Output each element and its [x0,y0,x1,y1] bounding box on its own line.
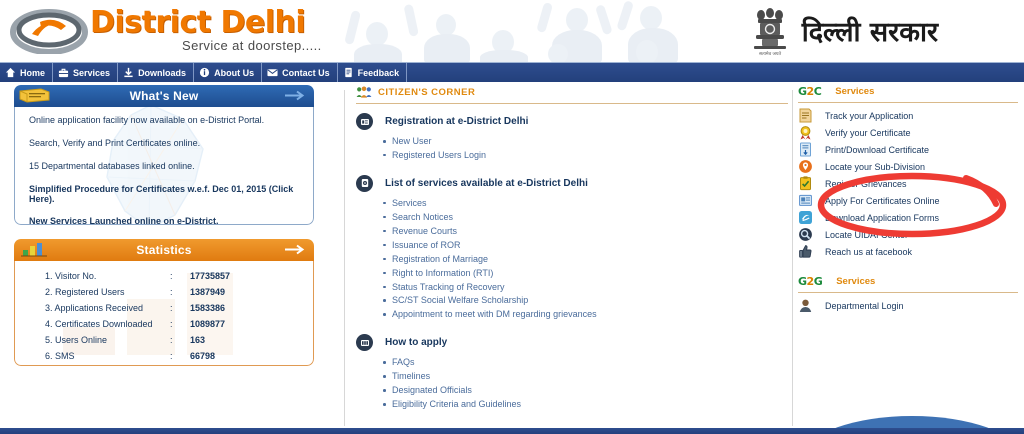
track-document-icon [798,108,813,123]
section-header: Registration at e-District Delhi [356,113,788,130]
g2c-item-verify-certificate[interactable]: Verify your Certificate [798,124,1018,141]
arrow-right-icon[interactable] [284,244,306,255]
award-medal-icon [798,125,813,140]
g2c-item-locate-uidai-center[interactable]: Locate UIDAI Center [798,226,1018,243]
g2g-logo: G2G [798,275,822,288]
g2c-item-label: Track your Application [825,111,913,121]
list-item[interactable]: SC/ST Social Welfare Scholarship [392,294,788,308]
nav-item-label: About Us [214,68,254,78]
section-how-to-apply: How to apply FAQs Timelines Designated O… [356,334,788,412]
page-content: What's New Online application facility n… [0,82,1024,434]
g2c-item-label: Print/Download Certificate [825,145,929,155]
delhi-government-hindi-title: दिल्ली सरकार [802,12,938,49]
list-item[interactable]: Issuance of ROR [392,239,788,253]
statistics-body: 1. Visitor No. : 17735857 2. Registered … [14,261,314,366]
people-icon [356,86,372,98]
list-item[interactable]: New User [392,135,788,149]
column-divider-right [792,90,793,426]
g2c-item-register-grievances[interactable]: Register Grievances [798,175,1018,192]
right-sidebar: G2C Services Track your Application [798,84,1018,314]
clipboard-check-icon [798,176,813,191]
statistics-row: 1. Visitor No. : 17735857 [15,268,313,284]
statistics-row: 6. SMS : 66798 [15,348,313,364]
nav-item-label: Downloads [138,68,186,78]
statistics-row: 3. Applications Received : 1583386 [15,300,313,316]
whats-new-item[interactable]: 15 Departmental databases linked online. [29,162,303,172]
statistics-separator: : [170,287,190,297]
citizens-corner-header: CITIZEN'S CORNER [356,84,788,100]
page-root: District Delhi Service at doorstep..... … [0,0,1024,434]
statistics-separator: : [170,319,190,329]
list-item[interactable]: Right to Information (RTI) [392,267,788,281]
info-icon [199,67,210,78]
g2g-item-departmental-login[interactable]: Departmental Login [798,297,1018,314]
g2g-header: G2G Services [798,274,1018,289]
g2c-services-label: Services [835,86,874,97]
g2c-item-reach-us-facebook[interactable]: Reach us at facebook [798,243,1018,260]
main-navigation: Home Services Downloads About Us [0,62,1024,82]
statistics-title: Statistics [136,243,191,257]
briefcase-icon [58,67,69,78]
statistics-value: 66798 [190,351,215,361]
nav-item-downloads[interactable]: Downloads [118,63,194,83]
statistics-label: 4. Certificates Downloaded [45,319,170,329]
envelope-icon [267,67,278,78]
g2g-item-label: Departmental Login [825,301,904,311]
whats-new-item[interactable]: New Services Launched online on e-Distri… [29,217,303,225]
section-title: Registration at e-District Delhi [385,116,528,127]
bar-chart-icon [19,242,53,257]
list-item[interactable]: Designated Officials [392,384,788,398]
statistics-panel: Statistics 1. Visitor No. : 17735857 [14,239,314,366]
list-item[interactable]: Registered Users Login [392,149,788,163]
nav-item-label: Services [73,68,110,78]
section-list: Services Search Notices Revenue Courts I… [356,197,788,322]
how-to-apply-icon [356,334,373,351]
g2c-item-label: Locate UIDAI Center [825,230,908,240]
list-item[interactable]: Search Notices [392,211,788,225]
column-divider-left [344,90,345,426]
statistics-value: 1583386 [190,303,225,313]
document-icon [343,67,354,78]
whats-new-panel: What's New Online application facility n… [14,85,314,225]
section-title: How to apply [385,337,447,348]
arrow-right-icon[interactable] [284,90,306,101]
list-item[interactable]: FAQs [392,356,788,370]
user-avatar-icon [798,298,813,313]
citizens-banner-photo [340,0,700,62]
section-services-list: List of services available at e-District… [356,175,788,322]
nav-item-label: Home [20,68,45,78]
g2c-item-track-application[interactable]: Track your Application [798,107,1018,124]
nav-item-label: Feedback [358,68,400,78]
g2g-divider [798,292,1018,293]
location-pin-icon [798,159,813,174]
section-header: How to apply [356,334,788,351]
logo-tagline: Service at doorstep..... [182,38,322,53]
news-icon [19,88,53,103]
edistrict-swoosh-icon [10,8,88,54]
apply-form-icon [798,193,813,208]
section-title: List of services available at e-District… [385,178,588,189]
section-list: FAQs Timelines Designated Officials Elig… [356,356,788,412]
whats-new-item[interactable]: Simplified Procedure for Certificates w.… [29,185,303,205]
delhi-government-brand: सत्यमेव जयते दिल्ली सरकार [748,4,938,56]
statistics-label: 5. Users Online [45,335,170,345]
download-form-icon [798,210,813,225]
g2c-item-label: Verify your Certificate [825,128,911,138]
g2c-divider [798,102,1018,103]
statistics-row: 4. Certificates Downloaded : 1089877 [15,316,313,332]
nav-item-contact-us[interactable]: Contact Us [262,63,338,83]
registration-icon [356,113,373,130]
logo-title: District Delhi [90,5,305,40]
g2c-header: G2C Services [798,84,1018,99]
site-header: District Delhi Service at doorstep..... … [0,0,1024,62]
g2g-services-label: Services [836,276,875,287]
statistics-value: 163 [190,335,205,345]
ashoka-emblem-icon: सत्यमेव जयते [748,4,792,56]
whats-new-title: What's New [130,89,199,103]
nav-item-feedback[interactable]: Feedback [338,63,408,83]
footer-bar [0,428,1024,434]
download-icon [123,67,134,78]
section-registration: Registration at e-District Delhi New Use… [356,113,788,163]
g2c-item-label: Apply For Certificates Online [825,196,940,206]
nav-item-about-us[interactable]: About Us [194,63,262,83]
g2c-item-apply-certificates-online[interactable]: Apply For Certificates Online [798,192,1018,209]
statistics-row: 2. Registered Users : 1387949 [15,284,313,300]
g2c-item-label: Download Application Forms [825,213,939,223]
list-item[interactable]: Services [392,197,788,211]
svg-text:सत्यमेव जयते: सत्यमेव जयते [759,50,782,56]
site-logo[interactable]: District Delhi Service at doorstep..... [6,2,346,60]
whats-new-item[interactable]: Search, Verify and Print Certificates on… [29,139,303,149]
home-icon [5,67,16,78]
g2c-item-print-download-certificate[interactable]: Print/Download Certificate [798,141,1018,158]
certificate-icon [798,142,813,157]
statistics-label: 3. Applications Received [45,303,170,313]
list-item[interactable]: Appointment to meet with DM regarding gr… [392,308,788,322]
list-item[interactable]: Status Tracking of Recovery [392,281,788,295]
list-item[interactable]: Eligibility Criteria and Guidelines [392,398,788,412]
statistics-value: 17735857 [190,271,230,281]
citizens-corner-column: CITIZEN'S CORNER Registration at e-Distr… [356,84,788,424]
left-sidebar: What's New Online application facility n… [14,85,314,366]
citizens-corner-title: CITIZEN'S CORNER [378,87,475,98]
statistics-separator: : [170,351,190,361]
statistics-row: 5. Users Online : 163 [15,332,313,348]
nav-item-services[interactable]: Services [53,63,118,83]
g2c-item-locate-sub-division[interactable]: Locate your Sub-Division [798,158,1018,175]
statistics-label: 1. Visitor No. [45,271,170,281]
g2c-item-label: Register Grievances [825,179,907,189]
g2c-item-label: Reach us at facebook [825,247,912,257]
g2c-item-label: Locate your Sub-Division [825,162,925,172]
services-list-icon [356,175,373,192]
thumbs-up-icon [798,244,813,259]
statistics-value: 1387949 [190,287,225,297]
statistics-value: 1089877 [190,319,225,329]
list-item[interactable]: Registration of Marriage [392,253,788,267]
list-item[interactable]: Revenue Courts [392,225,788,239]
statistics-separator: : [170,303,190,313]
whats-new-body: Online application facility now availabl… [14,107,314,225]
g2c-item-download-application-forms[interactable]: Download Application Forms [798,209,1018,226]
nav-item-label: Contact Us [282,68,330,78]
search-location-icon [798,227,813,242]
statistics-label: 2. Registered Users [45,287,170,297]
section-header: List of services available at e-District… [356,175,788,192]
statistics-label: 6. SMS [45,351,170,361]
statistics-header: Statistics [14,239,314,261]
section-list: New User Registered Users Login [356,135,788,163]
list-item[interactable]: Timelines [392,370,788,384]
whats-new-header: What's New [14,85,314,107]
citizens-corner-divider [356,103,788,104]
statistics-separator: : [170,271,190,281]
whats-new-item[interactable]: Online application facility now availabl… [29,116,303,126]
statistics-separator: : [170,335,190,345]
g2c-logo: G2C [798,85,821,98]
nav-item-home[interactable]: Home [0,63,53,83]
